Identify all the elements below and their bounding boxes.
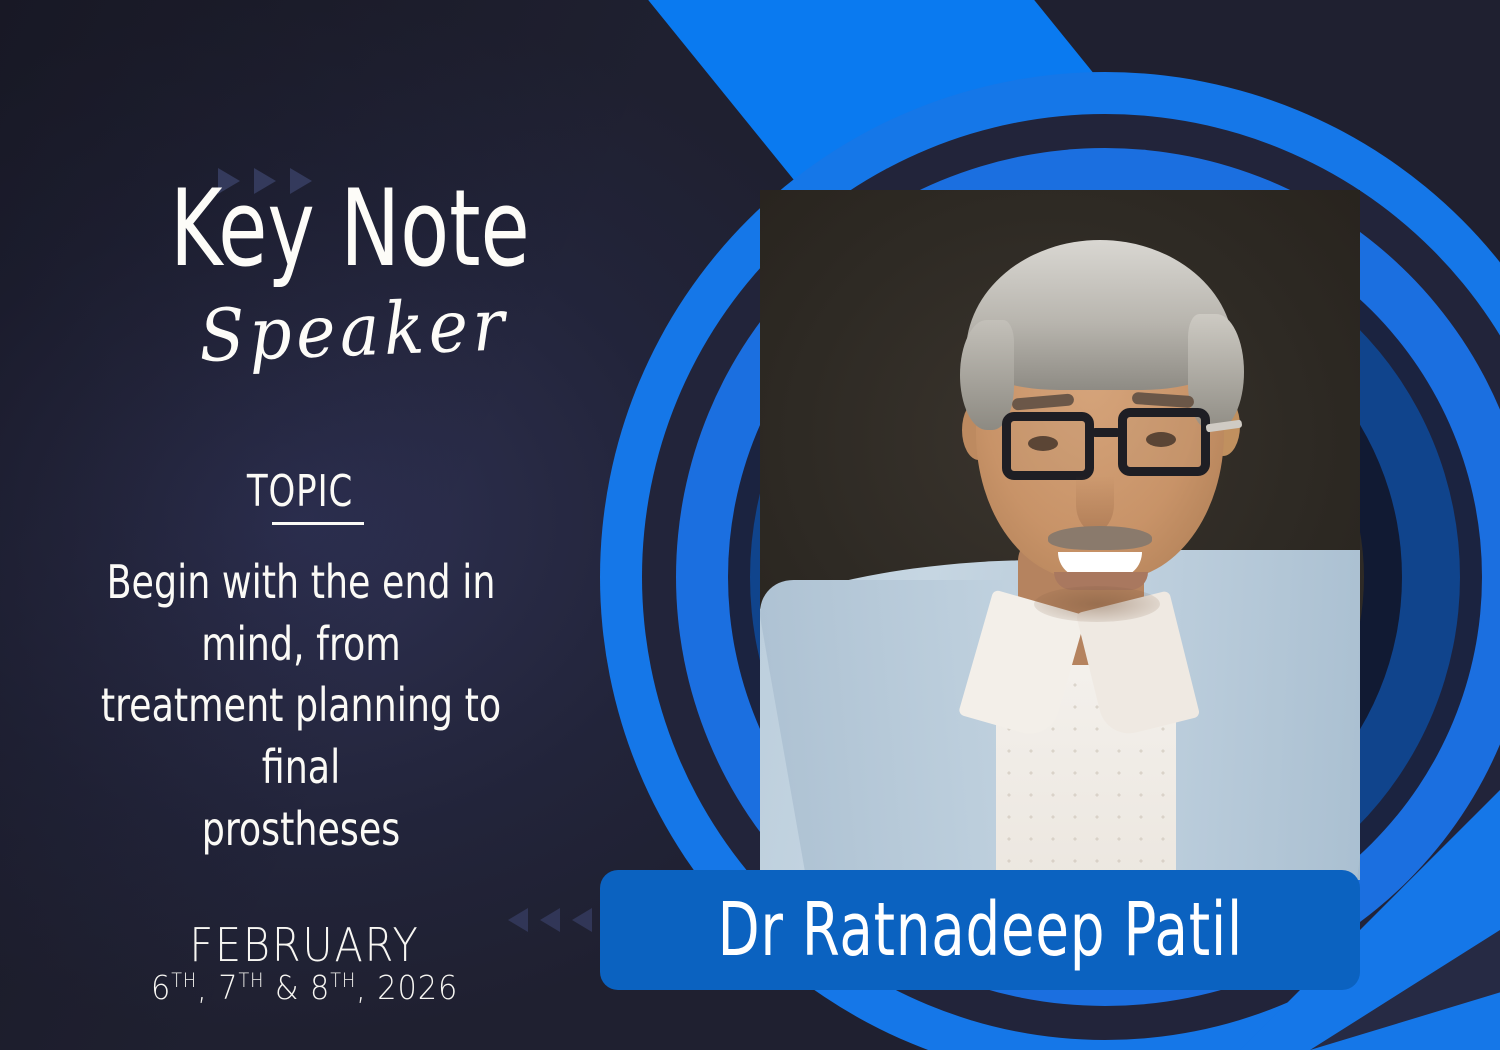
left-content-column: Key Note Speaker TOPIC Begin with the en… (0, 0, 600, 1050)
topic-label-underline (272, 522, 364, 525)
eyeglasses-lens-left (1002, 412, 1094, 480)
moustache (1048, 526, 1152, 550)
nose (1076, 476, 1114, 532)
speaker-name: Dr Ratnadeep Patil (717, 887, 1242, 973)
topic-text: Begin with the end in mind, from treatme… (78, 552, 523, 860)
triangle-left-icon (572, 908, 592, 932)
speaker-name-banner: Dr Ratnadeep Patil (600, 870, 1360, 990)
event-day-1-ordinal: TH (171, 969, 197, 992)
event-days: 6TH, 7TH & 8TH, 2026 (24, 968, 576, 1007)
event-month: FEBRUARY (30, 918, 570, 972)
chin-shadow (1034, 586, 1160, 622)
topic-text-line-2: treatment planning to final (78, 675, 523, 798)
topic-label: TOPIC (42, 466, 558, 517)
topic-text-line-1: Begin with the end in mind, from (78, 552, 523, 675)
event-year: , 2026 (356, 968, 458, 1007)
event-day-3: & 8 (264, 968, 330, 1007)
speaker-portrait-photo (760, 190, 1360, 880)
headline-speaker: Speaker (198, 288, 510, 372)
event-day-2: , 7 (197, 968, 238, 1007)
headline-key-note: Key Note (170, 178, 530, 280)
event-day-1: 6 (151, 968, 171, 1007)
event-day-2-ordinal: TH (238, 969, 264, 992)
keynote-speaker-poster: Dr Ratnadeep Patil Key Note Speaker TOPI… (0, 0, 1500, 1050)
eyeglasses-lens-right (1118, 408, 1210, 476)
topic-text-line-3: prostheses (78, 799, 523, 861)
event-day-3-ordinal: TH (330, 969, 356, 992)
eyeglasses-bridge (1092, 428, 1120, 437)
